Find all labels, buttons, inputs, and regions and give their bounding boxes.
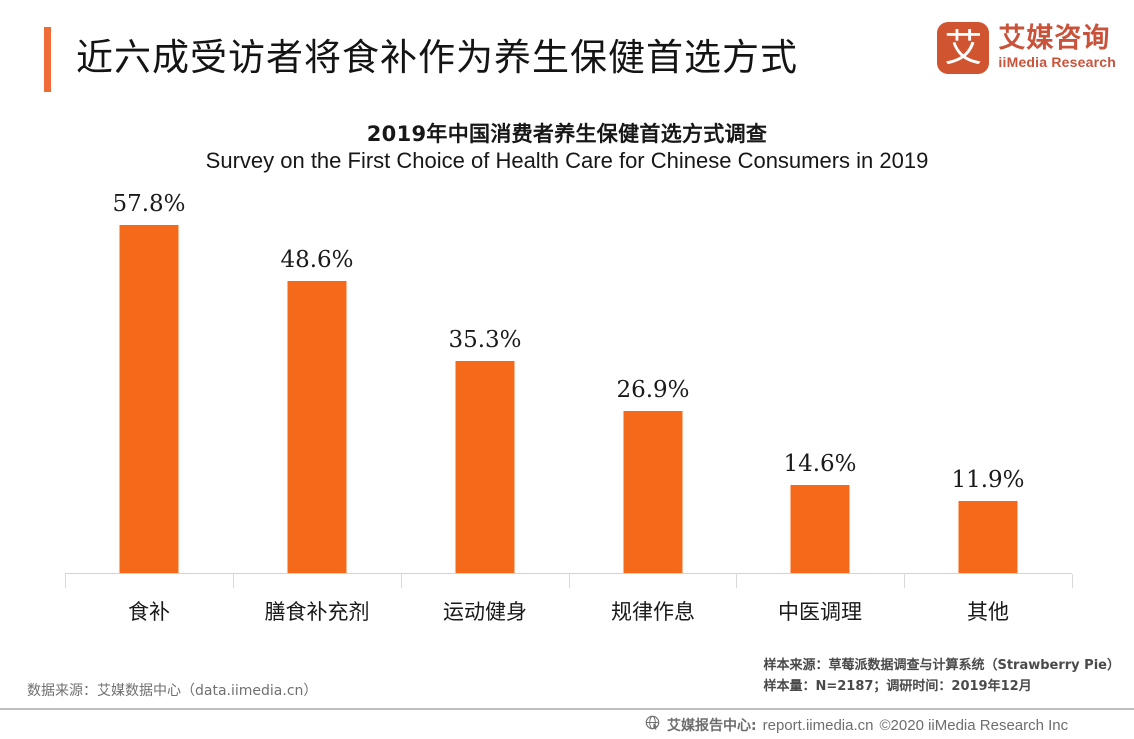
bar-value-label: 26.9% <box>616 377 689 403</box>
footer-report-url[interactable]: report.iimedia.cn <box>763 717 874 734</box>
bar-value-label: 57.8% <box>112 191 185 217</box>
footer-copyright: ©2020 iiMedia Research Inc <box>880 717 1069 734</box>
x-axis-category-label: 运动健身 <box>443 596 527 626</box>
bar[interactable] <box>288 281 347 573</box>
x-axis-tick <box>569 574 570 588</box>
sample-source-note: 样本来源：草莓派数据调查与计算系统（Strawberry Pie） <box>763 655 1120 676</box>
data-source-note: 数据来源：艾媒数据中心（data.iimedia.cn） <box>27 680 317 700</box>
logo-badge-glyph: 艾 <box>937 22 989 74</box>
header-accent-bar <box>44 27 51 92</box>
x-axis-tick <box>904 574 905 588</box>
chart-title-cn: 2019年中国消费者养生保健首选方式调查 <box>0 118 1134 148</box>
x-axis-tick <box>233 574 234 588</box>
bar[interactable] <box>120 225 179 573</box>
bar-group: 14.6%中医调理 <box>736 200 904 573</box>
globe-cursor-icon <box>645 715 661 735</box>
page-header: 近六成受访者将食补作为养生保健首选方式 艾 艾媒咨询 iiMedia Resea… <box>0 0 1134 108</box>
x-axis-category-label: 其他 <box>967 596 1009 626</box>
bar[interactable] <box>959 501 1018 573</box>
x-axis-category-label: 食补 <box>128 596 170 626</box>
page-title: 近六成受访者将食补作为养生保健首选方式 <box>76 28 798 88</box>
bar-group: 35.3%运动健身 <box>401 200 569 573</box>
bar-group: 11.9%其他 <box>904 200 1072 573</box>
bar-value-label: 11.9% <box>951 467 1024 493</box>
x-axis-tick <box>401 574 402 588</box>
bar-value-label: 35.3% <box>448 327 521 353</box>
sample-notes: 样本来源：草莓派数据调查与计算系统（Strawberry Pie） 样本量：N=… <box>763 655 1120 697</box>
x-axis-category-label: 膳食补充剂 <box>265 596 370 626</box>
logo-name-en: iiMedia Research <box>998 53 1116 72</box>
x-axis-category-label: 中医调理 <box>778 596 862 626</box>
bar-value-label: 48.6% <box>280 247 353 273</box>
x-axis-tick <box>736 574 737 588</box>
iimedia-logo: 艾 艾媒咨询 iiMedia Research <box>937 22 1116 74</box>
chart-title-en: Survey on the First Choice of Health Car… <box>0 148 1134 174</box>
logo-name-cn: 艾媒咨询 <box>998 24 1116 53</box>
footer-content: 艾媒报告中心: report.iimedia.cn ©2020 iiMedia … <box>645 715 1068 735</box>
bar-group: 26.9%规律作息 <box>569 200 737 573</box>
bar-chart-plot: 57.8%食补48.6%膳食补充剂35.3%运动健身26.9%规律作息14.6%… <box>65 200 1072 574</box>
bar[interactable] <box>456 361 515 573</box>
bar[interactable] <box>624 411 683 573</box>
x-axis-category-label: 规律作息 <box>611 596 695 626</box>
page-footer: 艾媒报告中心: report.iimedia.cn ©2020 iiMedia … <box>0 708 1134 739</box>
footer-report-center-label: 艾媒报告中心: <box>667 715 757 735</box>
bar-value-label: 14.6% <box>783 451 856 477</box>
x-axis-tick <box>65 574 66 588</box>
sample-size-note: 样本量：N=2187；调研时间：2019年12月 <box>763 676 1120 697</box>
bar[interactable] <box>791 485 850 573</box>
x-axis-tick <box>1072 574 1073 588</box>
bar-group: 48.6%膳食补充剂 <box>233 200 401 573</box>
logo-badge-icon: 艾 <box>937 22 989 74</box>
logo-text: 艾媒咨询 iiMedia Research <box>998 24 1116 72</box>
bar-group: 57.8%食补 <box>65 200 233 573</box>
